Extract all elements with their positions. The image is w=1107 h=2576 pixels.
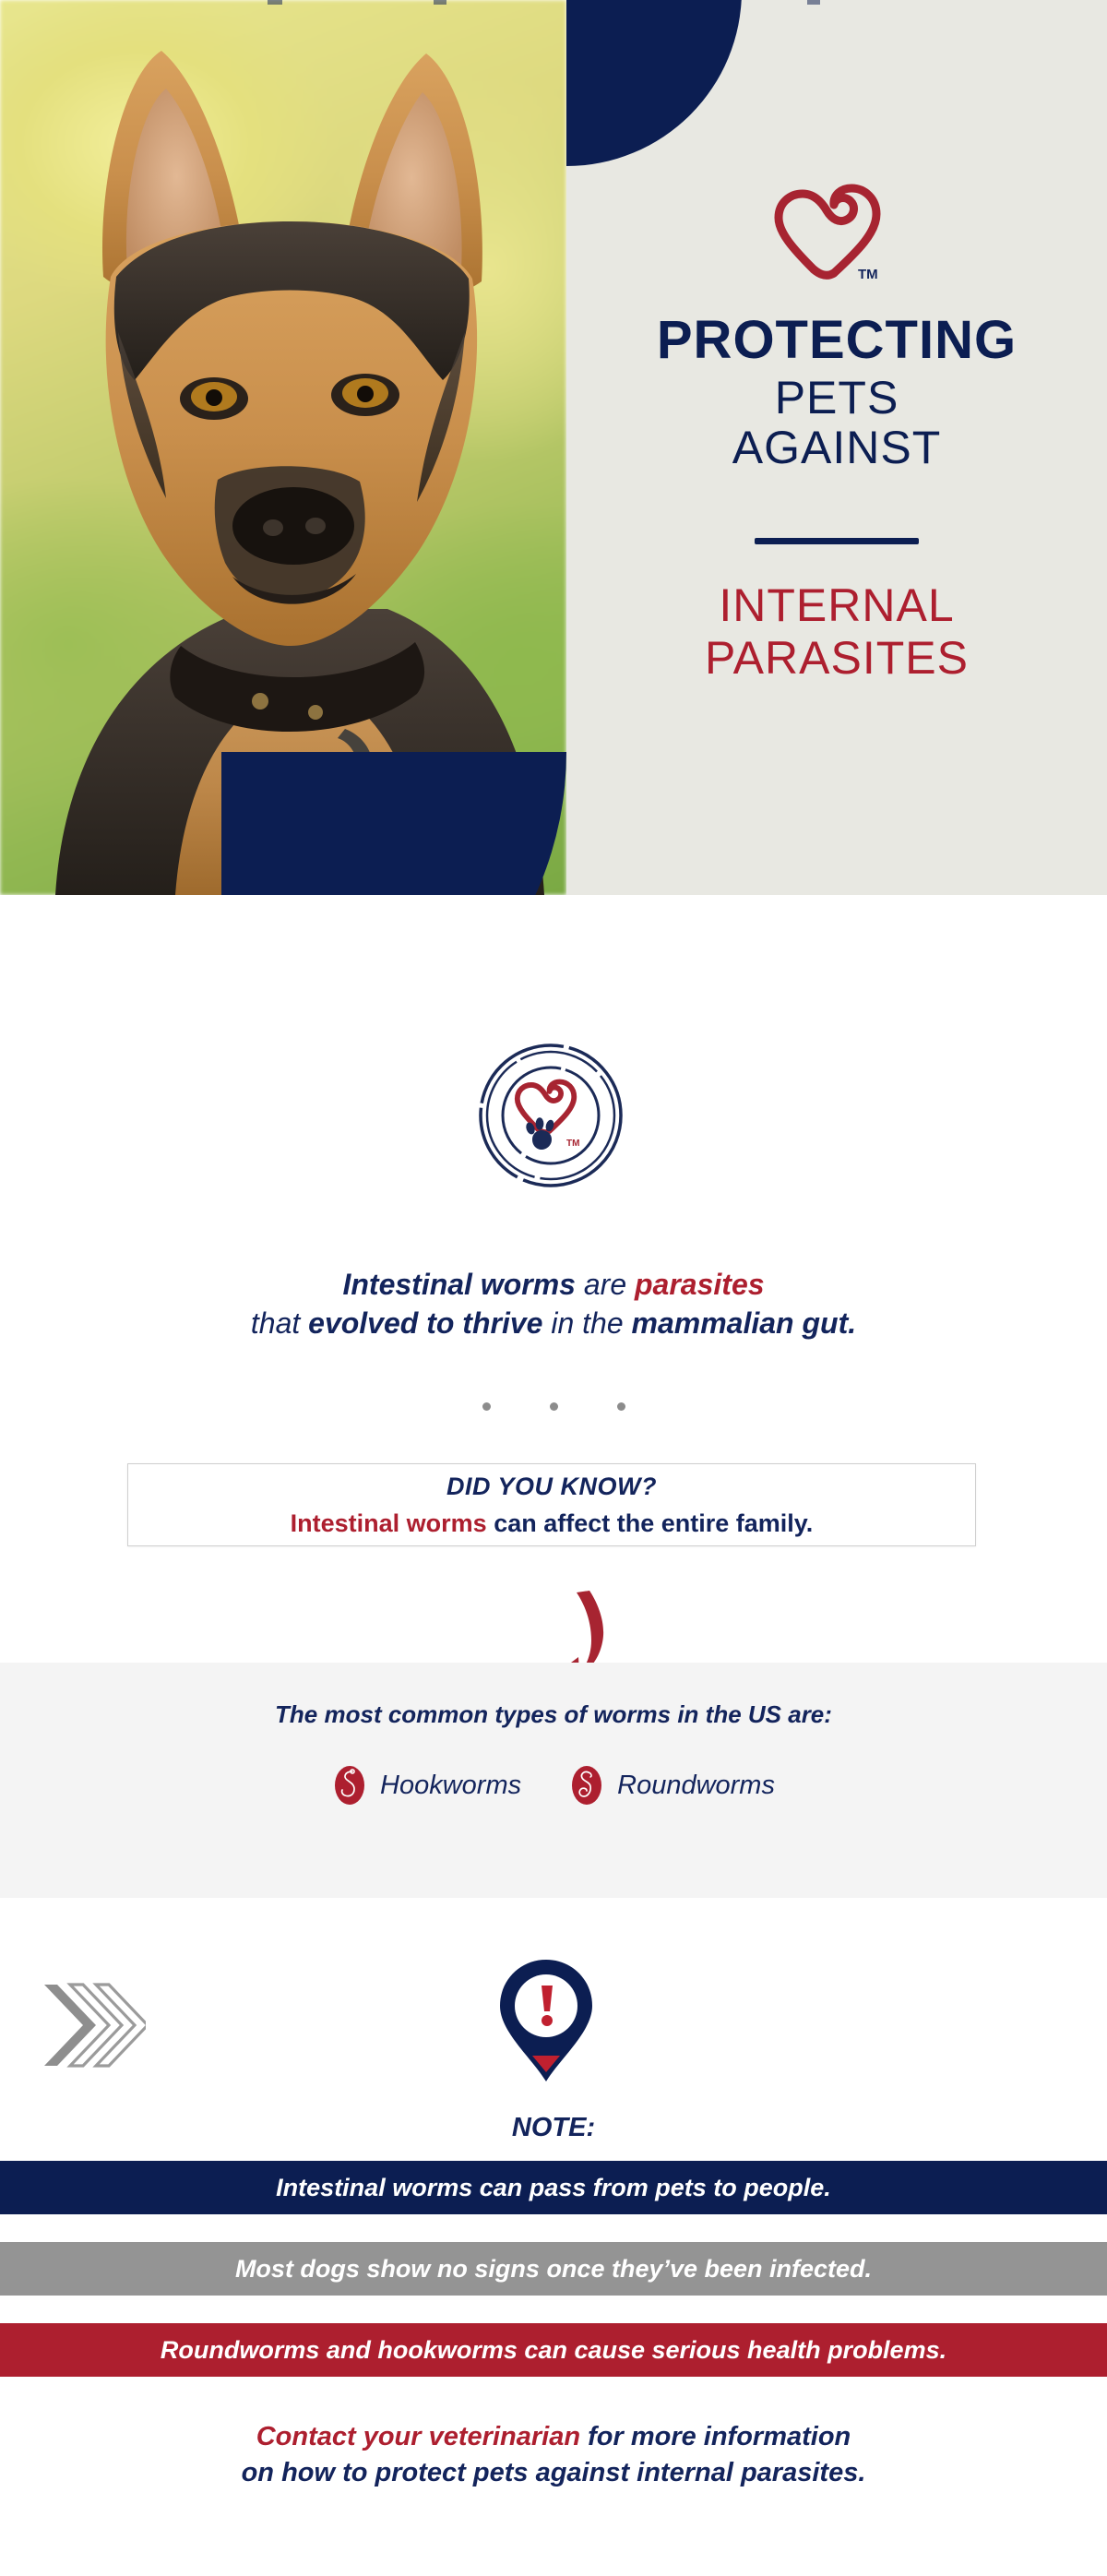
footer-line-1: Contact your veterinarian for more infor… bbox=[0, 2419, 1107, 2455]
hero-title-line2: PETS bbox=[566, 375, 1107, 421]
worm-type-list: Hookworms Roundworms bbox=[0, 1764, 1107, 1807]
intro-l2-a: that bbox=[251, 1306, 308, 1340]
intro-l2-d: mammalian gut. bbox=[632, 1306, 857, 1340]
decor-navy-quarter-circle-bottom bbox=[221, 752, 566, 895]
top-cut-mark bbox=[807, 0, 820, 5]
top-cut-mark bbox=[434, 0, 446, 5]
footer-cta: Contact your veterinarian for more infor… bbox=[0, 2419, 1107, 2490]
did-you-know-body: Intestinal worms can affect the entire f… bbox=[291, 1509, 814, 1538]
hero-title-line1: PROTECTING bbox=[566, 314, 1107, 367]
dyk-highlight: Intestinal worms bbox=[291, 1509, 487, 1537]
worm-label: Hookworms bbox=[380, 1771, 521, 1801]
note-bar-navy: Intestinal worms can pass from pets to p… bbox=[0, 2161, 1107, 2214]
hero-divider-rule bbox=[755, 538, 919, 544]
did-you-know-heading: DID YOU KNOW? bbox=[446, 1473, 657, 1501]
heart-swirl-logo-icon: TM bbox=[769, 183, 904, 284]
top-cut-mark bbox=[268, 0, 282, 5]
worm-label: Roundworms bbox=[617, 1771, 775, 1801]
intro-l1-mid: are bbox=[576, 1268, 635, 1301]
footer-rest: for more information bbox=[580, 2422, 851, 2451]
list-item: Hookworms bbox=[332, 1764, 521, 1807]
intro-l1-bold: Intestinal worms bbox=[342, 1268, 576, 1301]
intro-statement: Intestinal worms are parasites that evol… bbox=[0, 1266, 1107, 1342]
common-worms-title: The most common types of worms in the US… bbox=[0, 1700, 1107, 1729]
separator-dot bbox=[482, 1402, 491, 1411]
dot-separator bbox=[0, 1399, 1107, 1415]
hero-subtitle-line2: PARASITES bbox=[566, 634, 1107, 683]
intro-l1-parasites: parasites bbox=[635, 1268, 765, 1301]
hero-subtitle: INTERNAL PARASITES bbox=[566, 581, 1107, 682]
intro-l2-c: in the bbox=[542, 1306, 631, 1340]
hero-subtitle-line1: INTERNAL bbox=[566, 581, 1107, 630]
list-item: Roundworms bbox=[569, 1764, 775, 1807]
separator-dot bbox=[617, 1402, 625, 1411]
badge-tm-text: TM bbox=[566, 1139, 579, 1149]
footer-line-2: on how to protect pets against internal … bbox=[0, 2455, 1107, 2491]
exclamation-map-pin-icon bbox=[491, 1954, 601, 2093]
hookworm-icon bbox=[332, 1764, 367, 1807]
hero-title-line3: AGAINST bbox=[566, 424, 1107, 471]
dyk-rest: can affect the entire family. bbox=[487, 1509, 814, 1537]
intro-line-2: that evolved to thrive in the mammalian … bbox=[0, 1305, 1107, 1343]
intro-l2-b: evolved to thrive bbox=[308, 1306, 542, 1340]
triple-chevron-right-icon bbox=[35, 1977, 146, 2073]
footer-highlight: Contact your veterinarian bbox=[256, 2422, 580, 2451]
note-label: NOTE: bbox=[0, 2113, 1107, 2143]
hero-title: PROTECTING PETS AGAINST bbox=[566, 314, 1107, 471]
did-you-know-box: DID YOU KNOW? Intestinal worms can affec… bbox=[127, 1463, 976, 1546]
note-bar-gray: Most dogs show no signs once they’ve bee… bbox=[0, 2242, 1107, 2296]
heart-pawprint-seal-badge-icon: TM bbox=[473, 1038, 628, 1193]
badge-section: TM bbox=[0, 1038, 1107, 1204]
intro-line-1: Intestinal worms are parasites bbox=[0, 1266, 1107, 1305]
separator-dot bbox=[550, 1402, 558, 1411]
roundworm-icon bbox=[569, 1764, 604, 1807]
hero-section: TM PROTECTING PETS AGAINST INTERNAL PARA… bbox=[0, 0, 1107, 895]
logo-tm-text: TM bbox=[858, 267, 878, 282]
note-bar-red: Roundworms and hookworms can cause serio… bbox=[0, 2323, 1107, 2377]
